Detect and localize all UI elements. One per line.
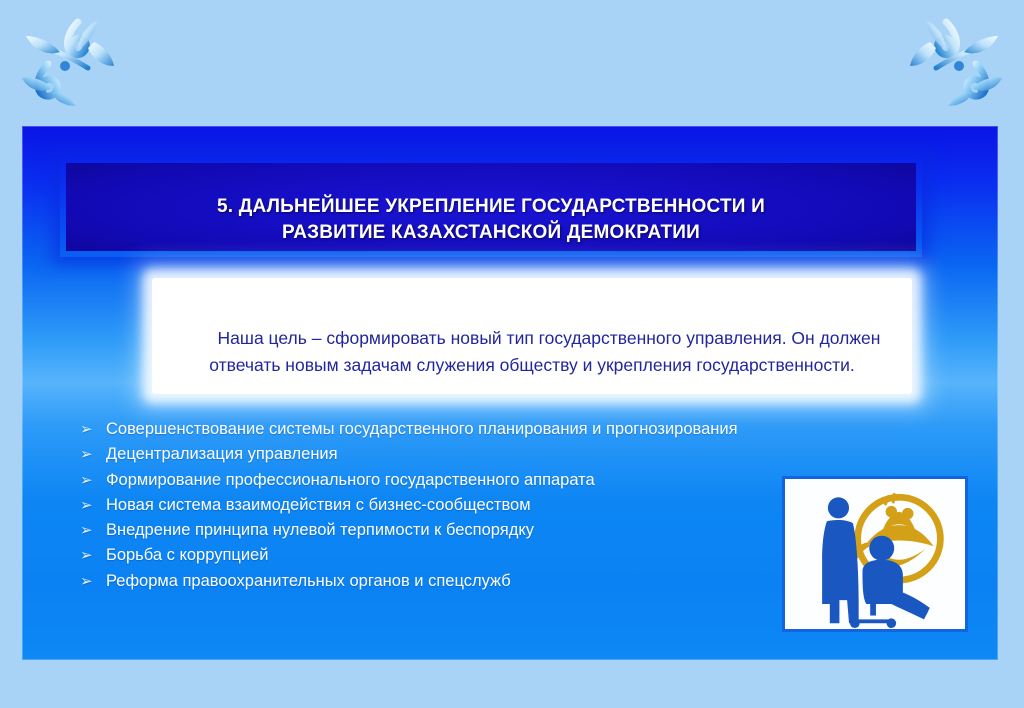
floral-swirl-ornament-mirrored-icon bbox=[896, 6, 1016, 106]
list-item: ➢ Децентрализация управления bbox=[80, 445, 960, 464]
arrow-bullet-icon: ➢ bbox=[80, 548, 106, 565]
arrow-bullet-icon: ➢ bbox=[80, 447, 106, 464]
arrow-bullet-icon: ➢ bbox=[80, 574, 106, 591]
arrow-bullet-icon: ➢ bbox=[80, 498, 106, 515]
list-item: ➢ Совершенствование системы государствен… bbox=[80, 420, 960, 439]
business-people-emblem-image bbox=[782, 476, 968, 632]
slide-body: 5. ДАЛЬНЕЙШЕЕ УКРЕПЛЕНИЕ ГОСУДАРСТВЕННОС… bbox=[22, 126, 998, 660]
list-item-label: Совершенствование системы государственно… bbox=[106, 420, 960, 438]
arrow-bullet-icon: ➢ bbox=[80, 473, 106, 490]
floral-swirl-ornament-icon bbox=[8, 6, 128, 106]
arrow-bullet-icon: ➢ bbox=[80, 523, 106, 540]
slide-page: 5. ДАЛЬНЕЙШЕЕ УКРЕПЛЕНИЕ ГОСУДАРСТВЕННОС… bbox=[0, 0, 1024, 708]
arrow-bullet-icon: ➢ bbox=[80, 422, 106, 439]
slide-title: 5. ДАЛЬНЕЙШЕЕ УКРЕПЛЕНИЕ ГОСУДАРСТВЕННОС… bbox=[66, 176, 916, 264]
quote-text: Наша цель – сформировать новый тип госуд… bbox=[152, 296, 912, 412]
list-item-label: Децентрализация управления bbox=[106, 445, 960, 463]
